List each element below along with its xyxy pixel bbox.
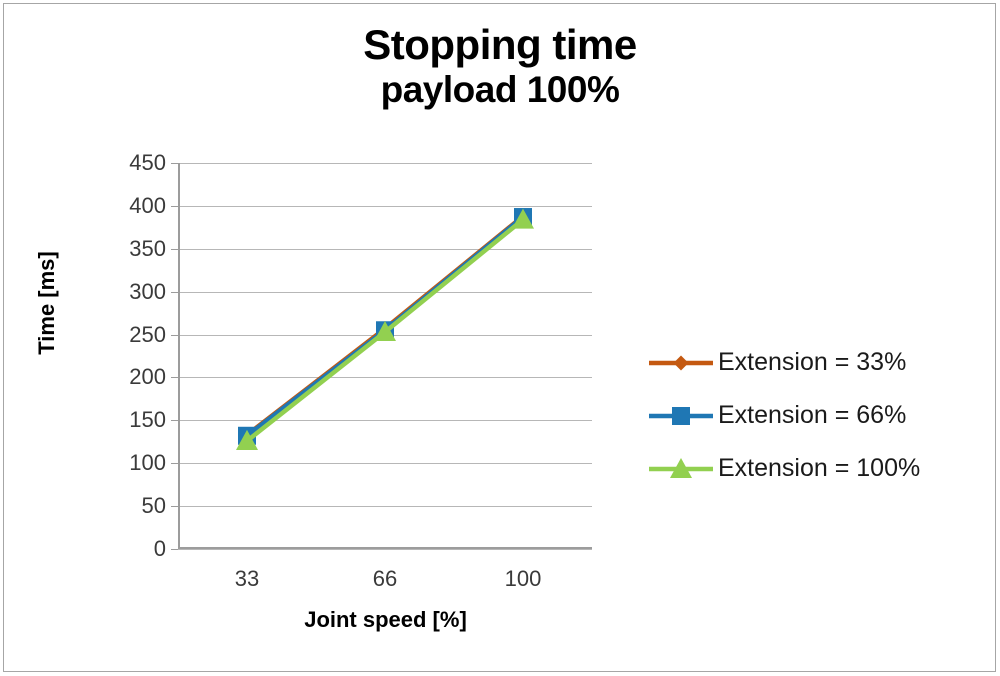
plot-area — [178, 163, 592, 549]
legend-label: Extension = 66% — [718, 401, 906, 430]
title-block: Stopping time payload 100% — [140, 22, 860, 112]
legend-item[interactable]: Extension = 66% — [648, 389, 988, 442]
chart-title: Stopping time — [140, 22, 860, 67]
y-axis-tick — [171, 206, 178, 207]
series-lines — [178, 163, 592, 549]
chart-legend: Extension = 33%Extension = 66%Extension … — [648, 336, 988, 495]
x-axis-title: Joint speed [%] — [178, 607, 593, 633]
y-axis-tick-label: 300 — [96, 279, 166, 305]
y-axis-tick — [171, 163, 178, 164]
legend-item[interactable]: Extension = 33% — [648, 336, 988, 389]
legend-label: Extension = 100% — [718, 454, 920, 483]
legend-item[interactable]: Extension = 100% — [648, 442, 988, 495]
y-axis-tick-labels: 450400350300250200150100500 — [96, 163, 166, 549]
y-axis-title: Time [ms] — [34, 233, 60, 373]
y-axis-tick — [171, 463, 178, 464]
x-axis-tick-label: 66 — [340, 566, 430, 592]
series-group — [236, 209, 534, 450]
y-axis-tick — [171, 249, 178, 250]
chart-figure: Stopping time payload 100% Time [ms] Joi… — [0, 0, 1000, 676]
x-axis-tick-label: 33 — [202, 566, 292, 592]
y-axis-tick — [171, 549, 178, 550]
y-axis-tick-label: 400 — [96, 193, 166, 219]
y-axis-tick-label: 450 — [96, 150, 166, 176]
gridline — [178, 549, 592, 550]
y-axis-tick-label: 200 — [96, 364, 166, 390]
y-axis-tick — [171, 377, 178, 378]
y-axis-tick — [171, 506, 178, 507]
chart-subtitle: payload 100% — [140, 69, 860, 112]
x-axis-tick-label: 100 — [478, 566, 568, 592]
y-axis-tick-label: 0 — [96, 536, 166, 562]
triangle-legend-icon — [648, 456, 714, 482]
square-marker — [672, 407, 690, 425]
y-axis-tick-label: 100 — [96, 450, 166, 476]
y-axis-tick — [171, 420, 178, 421]
diamond-legend-icon — [648, 350, 714, 376]
y-axis-tick — [171, 292, 178, 293]
y-axis-tick-label: 150 — [96, 407, 166, 433]
y-axis-tick — [171, 335, 178, 336]
y-axis-tick-label: 250 — [96, 322, 166, 348]
legend-label: Extension = 33% — [718, 348, 906, 377]
x-axis-tick-labels: 3366100 — [178, 566, 592, 596]
square-legend-icon — [648, 403, 714, 429]
diamond-marker — [674, 355, 689, 370]
y-axis-tick-label: 350 — [96, 236, 166, 262]
y-axis-tick-label: 50 — [96, 493, 166, 519]
